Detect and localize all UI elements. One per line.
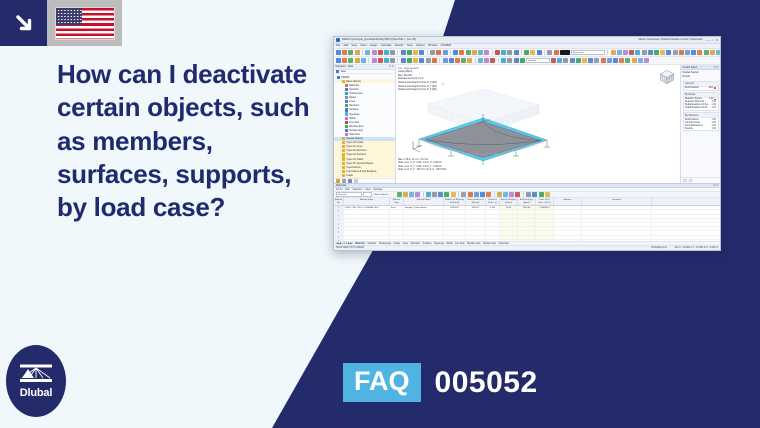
menu-item-file[interactable]: File [336, 44, 340, 47]
minimize-icon[interactable]: — [707, 38, 710, 42]
table-cell[interactable]: Isotropic | Linear Elastic [404, 206, 444, 209]
toolbar2-button-9[interactable] [601, 58, 606, 63]
table-cell-empty[interactable] [518, 236, 536, 239]
toolbar-button-17[interactable] [453, 50, 458, 55]
table-cell-empty[interactable] [344, 215, 390, 218]
table-toolbar-button-4[interactable] [415, 192, 420, 197]
toolbar-button-ext-3[interactable] [623, 50, 628, 55]
toolbar-button-ext-2[interactable] [617, 50, 622, 55]
tree-node-label: Solid Sets [349, 133, 360, 136]
table-cell-empty[interactable] [500, 236, 518, 239]
toolbar-button-17[interactable] [449, 58, 454, 63]
toolbar-button-5[interactable] [361, 58, 366, 63]
toolbar-button-10[interactable] [401, 58, 406, 63]
table-toolbar-button-8[interactable] [438, 192, 443, 197]
table-cell[interactable]: 0.0000012 [536, 206, 554, 209]
table-cell-empty[interactable] [554, 231, 582, 234]
tree-node-label: Sections [349, 88, 358, 91]
table-col-header-1[interactable]: Material Name [344, 198, 390, 205]
table-cell[interactable]: 7850.00 [518, 206, 536, 209]
table-cell-empty[interactable]: 6 [334, 227, 344, 230]
tree-node-icon [345, 112, 348, 115]
dlubal-logo[interactable]: Dlubal [6, 345, 66, 417]
table-cell[interactable]: 75.00 [500, 206, 518, 209]
menu-item-edit[interactable]: Edit [344, 44, 348, 47]
toolbar2-button-6[interactable] [582, 58, 587, 63]
navigator-tree[interactable]: −RFEM6+Basic ObjectsMaterialsSectionsThi… [334, 74, 395, 177]
menu-item-insert[interactable]: Insert [360, 44, 367, 47]
toolbar-button-26[interactable] [514, 50, 519, 55]
toolbar2-button-5[interactable] [576, 58, 581, 63]
table-col-header-6[interactable]: Poisson's Ratio ν [-] [486, 198, 500, 205]
app-icon [336, 38, 340, 42]
toolbar-button-15[interactable] [436, 50, 441, 55]
table-cell-empty[interactable] [536, 223, 554, 226]
tree-node-icon [345, 108, 348, 111]
tree-node-label: Materials [349, 84, 359, 87]
table-cell-empty[interactable] [486, 236, 500, 239]
toolbar-button-7[interactable] [378, 58, 383, 63]
control-panel-row[interactable]: Results1.00 [684, 127, 718, 130]
toolbar-button-14[interactable] [430, 50, 435, 55]
tree-node-icon [345, 121, 348, 124]
table-toolbar-button-6[interactable] [426, 192, 431, 197]
table-toolbar-button-12[interactable] [461, 192, 466, 197]
table-col-header-4[interactable]: Modulus of Elasticity E [N/mm²] [444, 198, 466, 205]
table-cell-empty[interactable] [444, 219, 466, 222]
toolbar-button-7[interactable] [378, 50, 383, 55]
tree-node-label: Nodes [349, 96, 356, 99]
toolbar-button-3[interactable] [348, 50, 353, 55]
table-col-header-10[interactable]: Stiffness [554, 198, 582, 205]
toolbar2-button-14[interactable] [632, 58, 637, 63]
table-cell-empty[interactable] [486, 219, 500, 222]
table-cell-empty[interactable] [500, 231, 518, 234]
cp-foot-btn-1[interactable] [683, 179, 687, 183]
table-cell-empty[interactable] [390, 215, 404, 218]
toolbar-button-16[interactable] [443, 50, 448, 55]
toolbar-button-19[interactable] [466, 50, 471, 55]
table-cell-empty[interactable] [536, 210, 554, 213]
table-cell-empty[interactable] [486, 210, 500, 213]
language-bar [0, 0, 122, 46]
toolbar-button-20[interactable] [467, 58, 472, 63]
toolbar-button-25[interactable] [507, 50, 512, 55]
table-cell-empty[interactable] [466, 231, 486, 234]
toolbar-button-29[interactable] [537, 50, 542, 55]
toolbar-button-ext-8[interactable] [654, 50, 659, 55]
table-toolbar-button-18[interactable] [497, 192, 502, 197]
toolbar-button-16[interactable] [443, 58, 448, 63]
toolbar-button-12[interactable] [413, 58, 418, 63]
table-cell-empty[interactable] [466, 210, 486, 213]
toolbar-button-8[interactable] [384, 50, 389, 55]
toolbar-combo-expression[interactable]: Expression [571, 50, 605, 55]
navigator-pin-icon[interactable]: ⚲ ✕ [389, 65, 393, 68]
table-cell[interactable]: 31000.00 [444, 206, 466, 209]
table-cell-empty[interactable] [554, 236, 582, 239]
toolbar-button-19[interactable] [461, 58, 466, 63]
toolbar-button-10[interactable] [401, 50, 406, 55]
toolbar-button-3[interactable] [348, 58, 353, 63]
table-col-header-7[interactable]: Specific Weight γ [kN/m³] [500, 198, 518, 205]
table-cell-empty[interactable] [390, 227, 404, 230]
toolbar-button-27[interactable] [524, 50, 529, 55]
toolbar-button-4[interactable] [355, 58, 360, 63]
toolbar-combo-isometric[interactable]: Isometric [526, 58, 550, 63]
toolbar-button-ext-7[interactable] [648, 50, 653, 55]
toolbar-button-ext-15[interactable] [697, 50, 702, 55]
toolbar-button-27[interactable] [520, 58, 525, 63]
app-toolbar-secondary[interactable]: Isometric [334, 57, 720, 65]
control-panel-row-value: 1.00 [709, 98, 713, 100]
table-toolbar-separator [494, 192, 495, 197]
structural-model-3d [408, 85, 558, 165]
table-toolbar-button-1[interactable] [397, 192, 402, 197]
tree-node-label: Surface Sets [349, 129, 363, 132]
viewport-result-notes: Max u: 38.0 | min uz : 8.0 mmNode | Loc.… [398, 159, 446, 173]
table-col-header-3[interactable]: Material Model [404, 198, 444, 205]
table-cell-empty[interactable] [554, 210, 582, 213]
toolbar-button-ext-13[interactable] [685, 50, 690, 55]
table-cell-empty[interactable] [466, 219, 486, 222]
table-cell-empty[interactable] [466, 223, 486, 226]
toolbar2-button-7[interactable] [588, 58, 593, 63]
table-cell-empty[interactable] [518, 210, 536, 213]
menu-item-tools[interactable]: Tools [407, 44, 413, 47]
toolbar-button-13[interactable] [419, 58, 424, 63]
table-cell-empty[interactable] [554, 223, 582, 226]
table-col-header-9[interactable]: Coeff. of Th. Exp. α [1/°C] [536, 198, 554, 205]
table-cell-empty[interactable]: 8 [334, 236, 344, 239]
headline-line-5: by load case? [57, 191, 337, 224]
table-toolbar-button-23[interactable] [526, 192, 531, 197]
table-cell-empty[interactable] [500, 210, 518, 213]
tree-node-icon [342, 162, 345, 165]
table-cell-empty[interactable] [536, 215, 554, 218]
toolbar-button-2[interactable] [342, 58, 347, 63]
table-toolbar-button-26[interactable] [545, 192, 550, 197]
table-cell-empty[interactable] [404, 215, 444, 218]
toolbar-button-ext-9[interactable] [660, 50, 665, 55]
table-cell-empty[interactable] [486, 231, 500, 234]
app-toolbar-primary[interactable]: Expression [334, 49, 720, 57]
table-cell-empty[interactable] [344, 227, 390, 230]
toolbar-button-ext-6[interactable] [642, 50, 647, 55]
toolbar-button-30[interactable] [547, 50, 552, 55]
toolbar-button-25[interactable] [507, 58, 512, 63]
table-cell-empty[interactable] [582, 219, 652, 222]
toolbar2-button-8[interactable] [594, 58, 599, 63]
table-grid[interactable]: Material No.Material NameMaterial TypeMa… [334, 198, 720, 241]
view-cube-icon[interactable] [658, 68, 676, 86]
tree-node-icon [342, 170, 345, 173]
table-cell-empty[interactable] [466, 227, 486, 230]
table-cell-empty[interactable] [582, 227, 652, 230]
toolbar-button-28[interactable] [530, 50, 535, 55]
table-menu-edit[interactable]: Edit [345, 188, 349, 191]
control-panel-row-value: 1.00 [712, 122, 716, 124]
app-title: RFEM 6 [example_grandstand(64b)(TEST)(Op… [342, 38, 416, 41]
table-toolbar-button-16[interactable] [486, 192, 491, 197]
control-panel-row-label: Internal Forces [685, 122, 700, 124]
close-icon[interactable]: ✕ [715, 38, 718, 42]
toolbar-button-2[interactable] [342, 50, 347, 55]
table-cell-empty[interactable] [486, 215, 500, 218]
table-toolbar-button-2[interactable] [403, 192, 408, 197]
tree-node-icon [342, 137, 345, 140]
window-buttons[interactable]: — □ ✕ [707, 38, 718, 42]
tree-node-icon [345, 96, 348, 99]
toolbar2-button-2[interactable] [557, 58, 562, 63]
table-cell-empty[interactable] [486, 227, 500, 230]
toolbar-button-ext-14[interactable] [691, 50, 696, 55]
table-menu-settings[interactable]: Settings [373, 188, 382, 191]
table-cell-empty[interactable] [444, 231, 466, 234]
menu-item-cad-bim[interactable]: CAD/BIM [440, 44, 451, 47]
table-toolbar-button-19[interactable] [503, 192, 508, 197]
table-cell-empty[interactable] [554, 215, 582, 218]
table-toolbar-button-10[interactable] [451, 192, 456, 197]
control-panel-row[interactable]: Nodal Reaction Lift M...1.00 [684, 107, 718, 110]
table-toolbar-separator [423, 192, 424, 197]
rfem-application-window[interactable]: RFEM 6 [example_grandstand(64b)(TEST)(Op… [333, 36, 721, 251]
table-col-header-2[interactable]: Material Type [390, 198, 404, 205]
table-cell-empty[interactable] [444, 223, 466, 226]
menu-item-results[interactable]: Results [395, 44, 404, 47]
table-cell-empty[interactable] [344, 231, 390, 234]
table-pane[interactable]: Materials ⚲ ✕ Go ToEditSelectionViewSett… [334, 183, 720, 245]
toolbar-button-15[interactable] [432, 58, 437, 63]
tree-node-icon [345, 133, 348, 136]
toolbar2-button-3[interactable] [563, 58, 568, 63]
toolbar-button-ext-1[interactable] [611, 50, 616, 55]
table-cell-empty[interactable] [518, 223, 536, 226]
toolbar-button-22[interactable] [484, 58, 489, 63]
toolbar2-button-16[interactable] [644, 58, 649, 63]
maximize-icon[interactable]: □ [712, 38, 714, 42]
toolbar-button-ext-4[interactable] [629, 50, 634, 55]
color-swatch[interactable] [560, 50, 570, 55]
table-cell-empty[interactable] [444, 210, 466, 213]
model-viewport[interactable]: LC1 - EigengewichtLoads [kN/m]Max. Berei… [396, 65, 680, 183]
toolbar-button-23[interactable] [495, 50, 500, 55]
menu-item-window[interactable]: Window [428, 44, 437, 47]
table-cell-empty[interactable] [390, 236, 404, 239]
table-toolbar-button-7[interactable] [432, 192, 437, 197]
table-cell-empty[interactable] [518, 219, 536, 222]
toolbar-button-ext-17[interactable] [710, 50, 715, 55]
control-panel-row[interactable]: Deformations30x1 [684, 87, 718, 90]
toolbar2-button-13[interactable] [625, 58, 630, 63]
toolbar-button-ext-12[interactable] [679, 50, 684, 55]
table-filter-spin[interactable] [363, 192, 372, 197]
table-cell-empty[interactable] [536, 231, 554, 234]
table-cell-empty[interactable] [518, 231, 536, 234]
table-filter-sub[interactable]: Basic Objects [373, 192, 395, 197]
table-cell-empty[interactable] [444, 227, 466, 230]
table-cell-empty[interactable] [344, 236, 390, 239]
table-cell-empty[interactable] [536, 219, 554, 222]
control-panel-row-label: Results [685, 128, 693, 130]
toolbar-button-14[interactable] [426, 58, 431, 63]
table-menu-selection[interactable]: Selection [352, 188, 362, 191]
table-cell-empty[interactable] [344, 223, 390, 226]
table-cell-empty[interactable] [500, 223, 518, 226]
toolbar-button-9[interactable] [390, 58, 395, 63]
table-cell-empty[interactable]: 7 [334, 231, 344, 234]
toolbar2-button-15[interactable] [638, 58, 643, 63]
toolbar-button-26[interactable] [514, 58, 519, 63]
table-cell-empty[interactable] [582, 210, 652, 213]
table-cell-empty[interactable] [444, 236, 466, 239]
table-cell[interactable]: C30/37 | EN 1992-1-1:2004/A1:2014 [344, 206, 390, 209]
table-toolbar-button-25[interactable] [539, 192, 544, 197]
toolbar-button-ext-5[interactable] [635, 50, 640, 55]
table-cell[interactable] [554, 206, 582, 209]
table-cell-empty[interactable] [554, 219, 582, 222]
navigator-panel[interactable]: Navigator - Data ⚲ ✕ Data −RFEM6+Basic O… [334, 65, 396, 183]
table-pane-pin-icon[interactable]: ⚲ ✕ [713, 184, 718, 187]
table-toolbar-button-20[interactable] [509, 192, 514, 197]
toolbar-button-ext-10[interactable] [666, 50, 671, 55]
table-cell[interactable]: Steel [390, 206, 404, 209]
table-cell-empty[interactable] [536, 227, 554, 230]
toolbar-button-6[interactable] [372, 58, 377, 63]
toolbar-button-11[interactable] [407, 50, 412, 55]
table-cell-empty[interactable] [466, 215, 486, 218]
table-cell-empty[interactable] [404, 227, 444, 230]
table-filter-combo[interactable]: Structure [336, 192, 362, 197]
toolbar-button-4[interactable] [355, 50, 360, 55]
statusbar-coords: Abs X : 12.000 m Y : 10.000 m Z : 0.000 … [675, 247, 718, 249]
table-cell-empty[interactable] [500, 219, 518, 222]
table-cell-empty[interactable] [518, 227, 536, 230]
toolbar-button-21[interactable] [478, 50, 483, 55]
tree-node-label: Basic Objects [346, 80, 361, 83]
toolbar-button-18[interactable] [459, 50, 464, 55]
toolbar-button-6[interactable] [372, 50, 377, 55]
menu-item-calculate[interactable]: Calculate [381, 44, 392, 47]
table-col-header-8[interactable]: Bulk Density ρ [kg/m³] [518, 198, 536, 205]
table-cell-empty[interactable] [582, 223, 652, 226]
table-cell-empty[interactable] [404, 219, 444, 222]
menu-item-options[interactable]: Options [416, 44, 425, 47]
table-cell-empty[interactable] [500, 227, 518, 230]
table-cell-empty[interactable] [344, 210, 390, 213]
menu-item-assign[interactable]: Assign [370, 44, 378, 47]
table-cell-empty[interactable] [582, 231, 652, 234]
table-cell-empty[interactable] [404, 223, 444, 226]
toolbar-button-23[interactable] [490, 58, 495, 63]
control-panel-sections[interactable]: GeneralDeformations30x1By NodesReaction … [681, 80, 720, 133]
toolbar-button-12[interactable] [413, 50, 418, 55]
tree-node-label: Types for Members [346, 149, 366, 152]
faq-number: 005052 [435, 366, 538, 400]
table-toolbar-button-3[interactable] [409, 192, 414, 197]
menu-item-view[interactable]: View [351, 44, 357, 47]
toolbar-button-24[interactable] [501, 58, 506, 63]
toolbar-button-5[interactable] [365, 50, 370, 55]
toolbar-button-11[interactable] [407, 58, 412, 63]
table-cell-empty[interactable] [390, 223, 404, 226]
toolbar-button-ext-16[interactable] [704, 50, 709, 55]
toolbar2-button-10[interactable] [607, 58, 612, 63]
toolbar-button-21[interactable] [478, 58, 483, 63]
toolbar2-button-1[interactable] [551, 58, 556, 63]
toolbar-button-1[interactable] [336, 50, 341, 55]
control-panel-row-value: 1.00 [712, 119, 716, 121]
table-cell-empty[interactable] [404, 236, 444, 239]
table-toolbar-button-14[interactable] [474, 192, 479, 197]
toolbar-button-22[interactable] [484, 50, 489, 55]
table-cell-empty[interactable] [404, 210, 444, 213]
table-cell-empty[interactable] [444, 215, 466, 218]
toolbar2-button-11[interactable] [613, 58, 618, 63]
cp-foot-btn-2[interactable] [689, 179, 693, 183]
table-cell-empty[interactable] [404, 231, 444, 234]
tree-node-icon [342, 166, 345, 169]
table-cell-empty[interactable] [500, 215, 518, 218]
table-toolbar-button-13[interactable] [468, 192, 473, 197]
table-cell-empty[interactable] [390, 219, 404, 222]
table-cell-empty[interactable] [518, 215, 536, 218]
table-toolbar-button-24[interactable] [532, 192, 537, 197]
toolbar2-button-12[interactable] [619, 58, 624, 63]
table-cell-empty[interactable] [582, 215, 652, 218]
toolbar-separator [427, 50, 428, 55]
toolbar-button-24[interactable] [501, 50, 506, 55]
control-panel[interactable]: Control Panel ⚲ ✕ Display Section RC120 … [680, 65, 720, 183]
table-cell-empty[interactable] [390, 210, 404, 213]
table-toolbar-button-9[interactable] [444, 192, 449, 197]
tree-node-label: Special Objects [346, 137, 363, 140]
toolbar-button-9[interactable] [390, 50, 395, 55]
language-flag-button[interactable] [47, 0, 122, 46]
table-cell-empty[interactable] [582, 236, 652, 239]
table-toolbar-button-15[interactable] [480, 192, 485, 197]
table-cell-empty[interactable] [486, 223, 500, 226]
table-cell-empty[interactable] [466, 236, 486, 239]
toolbar-button-ext-18[interactable] [716, 50, 720, 55]
toolbar-button-ext-11[interactable] [673, 50, 678, 55]
toolbar-button-8[interactable] [384, 58, 389, 63]
table-cell-empty[interactable] [554, 227, 582, 230]
table-col-header-11[interactable]: Comment [582, 198, 652, 205]
table-rows[interactable]: 1C30/37 | EN 1992-1-1:2004/A1:2014SteelI… [334, 206, 720, 241]
tree-node-icon [345, 117, 348, 120]
navigator-tab-data[interactable]: Data [341, 70, 346, 73]
toolbar-button-31[interactable] [554, 50, 559, 55]
table-cell[interactable]: 0.200 [486, 206, 500, 209]
table-cell[interactable]: 40769.2 [466, 206, 486, 209]
expand-arrow-button[interactable] [0, 0, 47, 46]
table-cell-empty[interactable] [344, 219, 390, 222]
toolbar-button-20[interactable] [472, 50, 477, 55]
table-col-header-5[interactable]: Shear Modulus G [N/mm²] [466, 198, 486, 205]
toolbar-button-13[interactable] [419, 50, 424, 55]
toolbar-separator [362, 50, 363, 55]
table-menu-view[interactable]: View [365, 188, 370, 191]
table-cell-empty[interactable] [390, 231, 404, 234]
table-cell[interactable] [582, 206, 652, 209]
control-panel-subtitle-line2: RC120 [683, 75, 719, 79]
toolbar2-button-4[interactable] [570, 58, 575, 63]
table-cell-empty[interactable] [536, 236, 554, 239]
toolbar-button-18[interactable] [455, 58, 460, 63]
control-panel-pin-icon[interactable]: ⚲ ✕ [714, 66, 718, 69]
table-toolbar-button-21[interactable] [515, 192, 520, 197]
